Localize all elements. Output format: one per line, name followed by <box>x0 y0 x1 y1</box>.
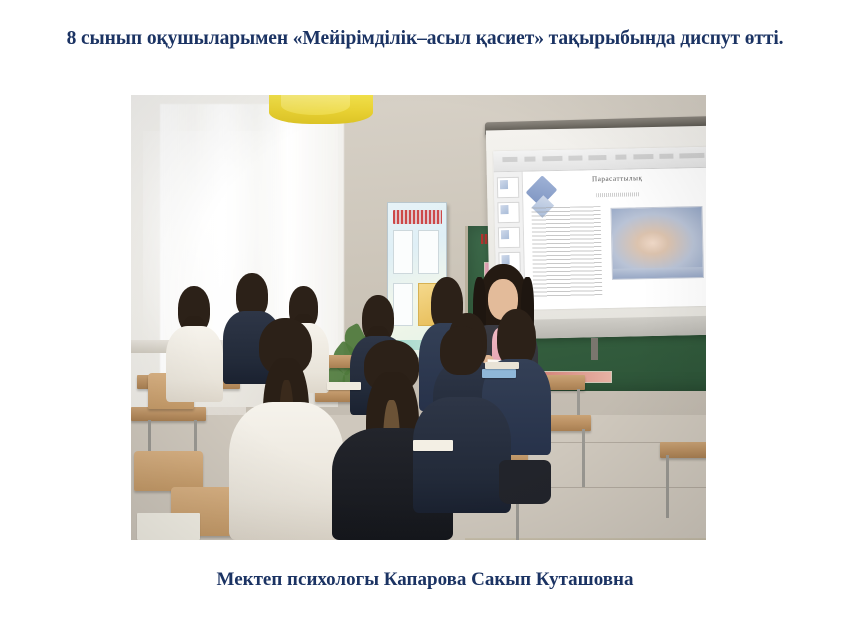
slide-thumbnail <box>498 227 520 248</box>
book <box>485 362 520 369</box>
slide-image-caption <box>612 268 703 280</box>
book <box>482 369 517 378</box>
slide-canvas: Парасаттылық <box>522 168 706 310</box>
slide-image <box>610 207 704 281</box>
student <box>166 286 224 402</box>
classroom-photo: Парасаттылық <box>131 95 706 540</box>
student-head <box>440 326 483 375</box>
page-title-line-2: диспут өтті. <box>680 28 783 49</box>
chair <box>134 451 203 491</box>
projector-screen-pull <box>591 338 598 360</box>
page-title: 8 сынып оқушыларымен «Мейірімділік–асыл … <box>60 26 790 52</box>
curtain-pelmet-highlight <box>281 95 350 115</box>
notebook <box>137 513 200 540</box>
slide-thumbnail <box>497 202 519 223</box>
info-board-card <box>393 230 413 273</box>
photo-caption: Мектеп психологы Капарова Сакып Куташовн… <box>60 568 790 592</box>
backpack <box>499 460 551 505</box>
book <box>413 440 453 452</box>
slide-heading: Парасаттылық <box>561 174 673 184</box>
slide-subheading <box>596 193 638 197</box>
slide-thumbnail <box>497 177 519 198</box>
book <box>327 382 362 390</box>
chalkboard-tray <box>465 538 707 540</box>
student-torso <box>229 402 344 540</box>
student <box>229 318 344 541</box>
student-torso <box>413 397 511 513</box>
student-torso <box>166 326 224 402</box>
info-board-header <box>393 210 442 224</box>
slide-body-text <box>531 206 602 299</box>
info-board-card <box>418 230 439 273</box>
page-title-line-1: 8 сынып оқушыларымен «Мейірімділік–асыл … <box>67 28 676 49</box>
student <box>413 326 511 513</box>
